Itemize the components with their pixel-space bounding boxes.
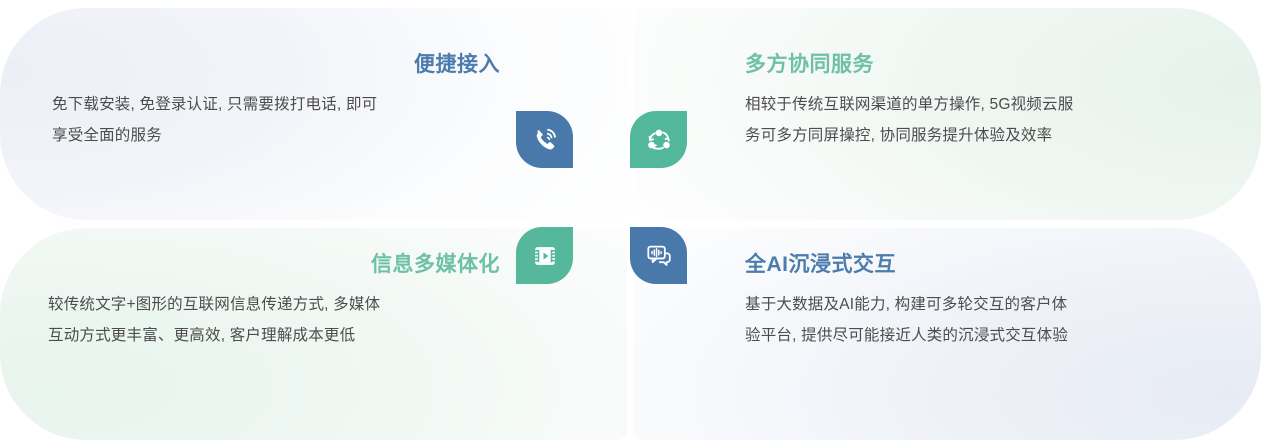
video-film-icon: [530, 241, 560, 271]
feature-body-multimedia-information: 较传统文字+图形的互联网信息传递方式, 多媒体 互动方式更丰富、更高效, 客户理…: [48, 289, 500, 351]
chat-voice-icon: [644, 241, 674, 271]
feature-text-full-ai-immersive: 全AI沉浸式交互 基于大数据及AI能力, 构建可多轮交互的客户体 验平台, 提供…: [745, 252, 1200, 351]
feature-icon-tile-convenient-access: [516, 111, 573, 168]
feature-icon-tile-multiparty-collaboration: [630, 111, 687, 168]
body-line: 互动方式更丰富、更高效, 客户理解成本更低: [48, 320, 500, 351]
feature-text-multiparty-collaboration: 多方协同服务 相较于传统互联网渠道的单方操作, 5G视频云服 务可多方同屏操控,…: [745, 52, 1200, 151]
body-line: 验平台, 提供尽可能接近人类的沉浸式交互体验: [745, 320, 1200, 351]
body-line: 相较于传统互联网渠道的单方操作, 5G视频云服: [745, 89, 1200, 120]
body-line: 较传统文字+图形的互联网信息传递方式, 多媒体: [48, 289, 500, 320]
feature-body-convenient-access: 免下载安装, 免登录认证, 只需要拨打电话, 即可 享受全面的服务: [52, 89, 500, 151]
feature-body-full-ai-immersive: 基于大数据及AI能力, 构建可多轮交互的客户体 验平台, 提供尽可能接近人类的沉…: [745, 289, 1200, 351]
feature-icon-tile-multimedia-information: [516, 227, 573, 284]
phone-signal-icon: [530, 125, 560, 155]
body-line: 务可多方同屏操控, 协同服务提升体验及效率: [745, 120, 1200, 151]
feature-title-multiparty-collaboration: 多方协同服务: [745, 52, 1200, 77]
body-line: 享受全面的服务: [52, 120, 500, 151]
feature-text-convenient-access: 便捷接入 免下载安装, 免登录认证, 只需要拨打电话, 即可 享受全面的服务: [52, 52, 500, 151]
feature-grid: 便捷接入 免下载安装, 免登录认证, 只需要拨打电话, 即可 享受全面的服务 多…: [0, 0, 1261, 443]
body-line: 免下载安装, 免登录认证, 只需要拨打电话, 即可: [52, 89, 500, 120]
feature-text-multimedia-information: 信息多媒体化 较传统文字+图形的互联网信息传递方式, 多媒体 互动方式更丰富、更…: [48, 252, 500, 351]
feature-title-multimedia-information: 信息多媒体化: [48, 252, 500, 277]
feature-title-convenient-access: 便捷接入: [52, 52, 500, 77]
feature-body-multiparty-collaboration: 相较于传统互联网渠道的单方操作, 5G视频云服 务可多方同屏操控, 协同服务提升…: [745, 89, 1200, 151]
collaboration-cycle-icon: [644, 125, 674, 155]
body-line: 基于大数据及AI能力, 构建可多轮交互的客户体: [745, 289, 1200, 320]
feature-icon-tile-full-ai-immersive: [630, 227, 687, 284]
feature-title-full-ai-immersive: 全AI沉浸式交互: [745, 252, 1200, 277]
